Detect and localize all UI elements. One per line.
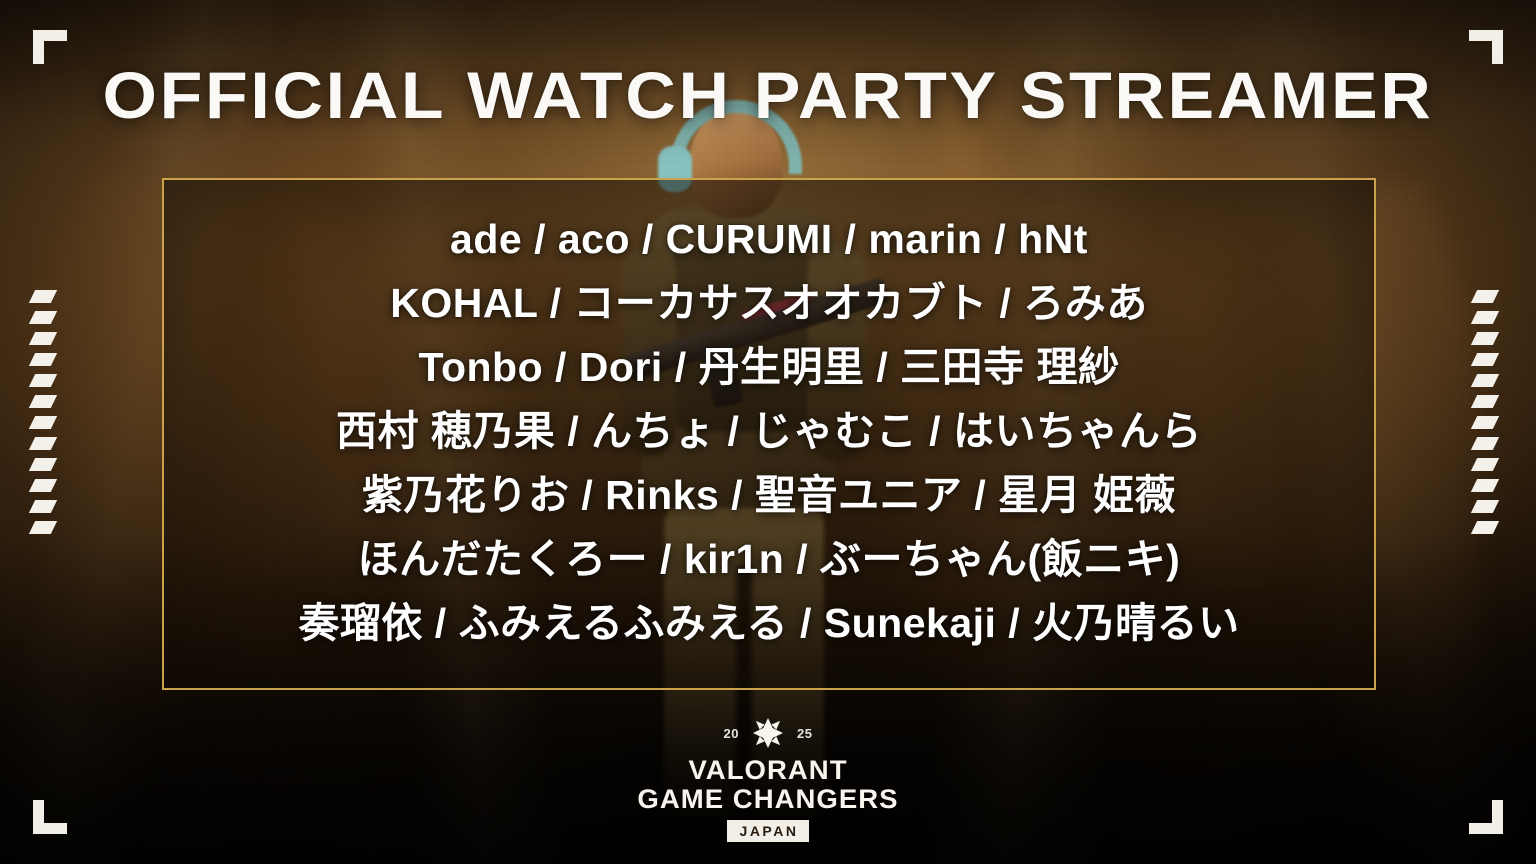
side-rail-dash — [1471, 374, 1499, 387]
side-rail-dash — [29, 353, 57, 366]
streamer-name-row: KOHAL / コーカサスオオカブト / ろみあ — [390, 271, 1148, 335]
streamer-list-panel: ade / aco / CURUMI / marin / hNtKOHAL / … — [162, 178, 1376, 690]
streamer-name-row: 奏瑠依 / ふみえるふみえる / Sunekaji / 火乃晴るい — [298, 591, 1239, 655]
streamer-name-row: 紫乃花りお / Rinks / 聖音ユニア / 星月 姫薇 — [362, 463, 1176, 527]
streamer-name-list: ade / aco / CURUMI / marin / hNtKOHAL / … — [164, 180, 1374, 688]
streamer-name-row: ほんだたくろー / kir1n / ぶーちゃん(飯ニキ) — [358, 527, 1181, 591]
side-rail-dash — [29, 332, 57, 345]
logo-region-badge: JAPAN — [727, 820, 810, 842]
side-rail-dash — [29, 521, 57, 534]
side-rail-dash — [29, 395, 57, 408]
side-rail-dash — [1471, 332, 1499, 345]
logo-title-game-changers: GAME CHANGERS — [635, 785, 900, 814]
side-rail-dash — [1471, 479, 1499, 492]
side-rail-dash — [29, 458, 57, 471]
side-rail-dash — [29, 290, 57, 303]
streamer-name-row: ade / aco / CURUMI / marin / hNt — [450, 207, 1088, 271]
logo-year-left: 20 — [724, 726, 739, 741]
side-rail-dash — [1471, 290, 1499, 303]
page-title: OFFICIAL WATCH PARTY STREAMER — [0, 57, 1536, 133]
logo-year-right: 25 — [797, 726, 812, 741]
corner-bracket-bottom-left — [33, 800, 67, 834]
side-rail-dash — [1471, 395, 1499, 408]
side-rail-dash — [29, 500, 57, 513]
streamer-name-row: Tonbo / Dori / 丹生明里 / 三田寺 理紗 — [418, 335, 1119, 399]
side-rail-dash — [1471, 500, 1499, 513]
side-rail-dash — [29, 311, 57, 324]
streamer-name-row: 西村 穂乃果 / んちょ / じゃむこ / はいちゃんら — [336, 399, 1202, 463]
side-rail-right — [1474, 290, 1504, 576]
bracket-vertical-bar — [1492, 800, 1503, 834]
side-rail-dash — [1471, 311, 1499, 324]
side-rail-dash — [1471, 353, 1499, 366]
side-rail-dash — [1471, 437, 1499, 450]
side-rail-dash — [1471, 521, 1499, 534]
logo-title-valorant: VALORANT — [635, 756, 900, 785]
corner-bracket-bottom-right — [1469, 800, 1503, 834]
side-rail-dash — [29, 479, 57, 492]
valorant-v-mark-icon — [748, 713, 788, 753]
logo-year-row: 20 25 — [638, 713, 898, 753]
event-logo-lockup: 20 25 VALORANT GAME CHANGERS JAPAN — [638, 713, 898, 842]
side-rail-dash — [29, 416, 57, 429]
side-rail-dash — [1471, 458, 1499, 471]
side-rail-left — [32, 290, 62, 576]
bracket-vertical-bar — [33, 800, 44, 834]
side-rail-dash — [29, 437, 57, 450]
watch-party-streamer-graphic: OFFICIAL WATCH PARTY STREAMER ade / aco … — [0, 0, 1536, 864]
side-rail-dash — [1471, 416, 1499, 429]
side-rail-dash — [29, 374, 57, 387]
